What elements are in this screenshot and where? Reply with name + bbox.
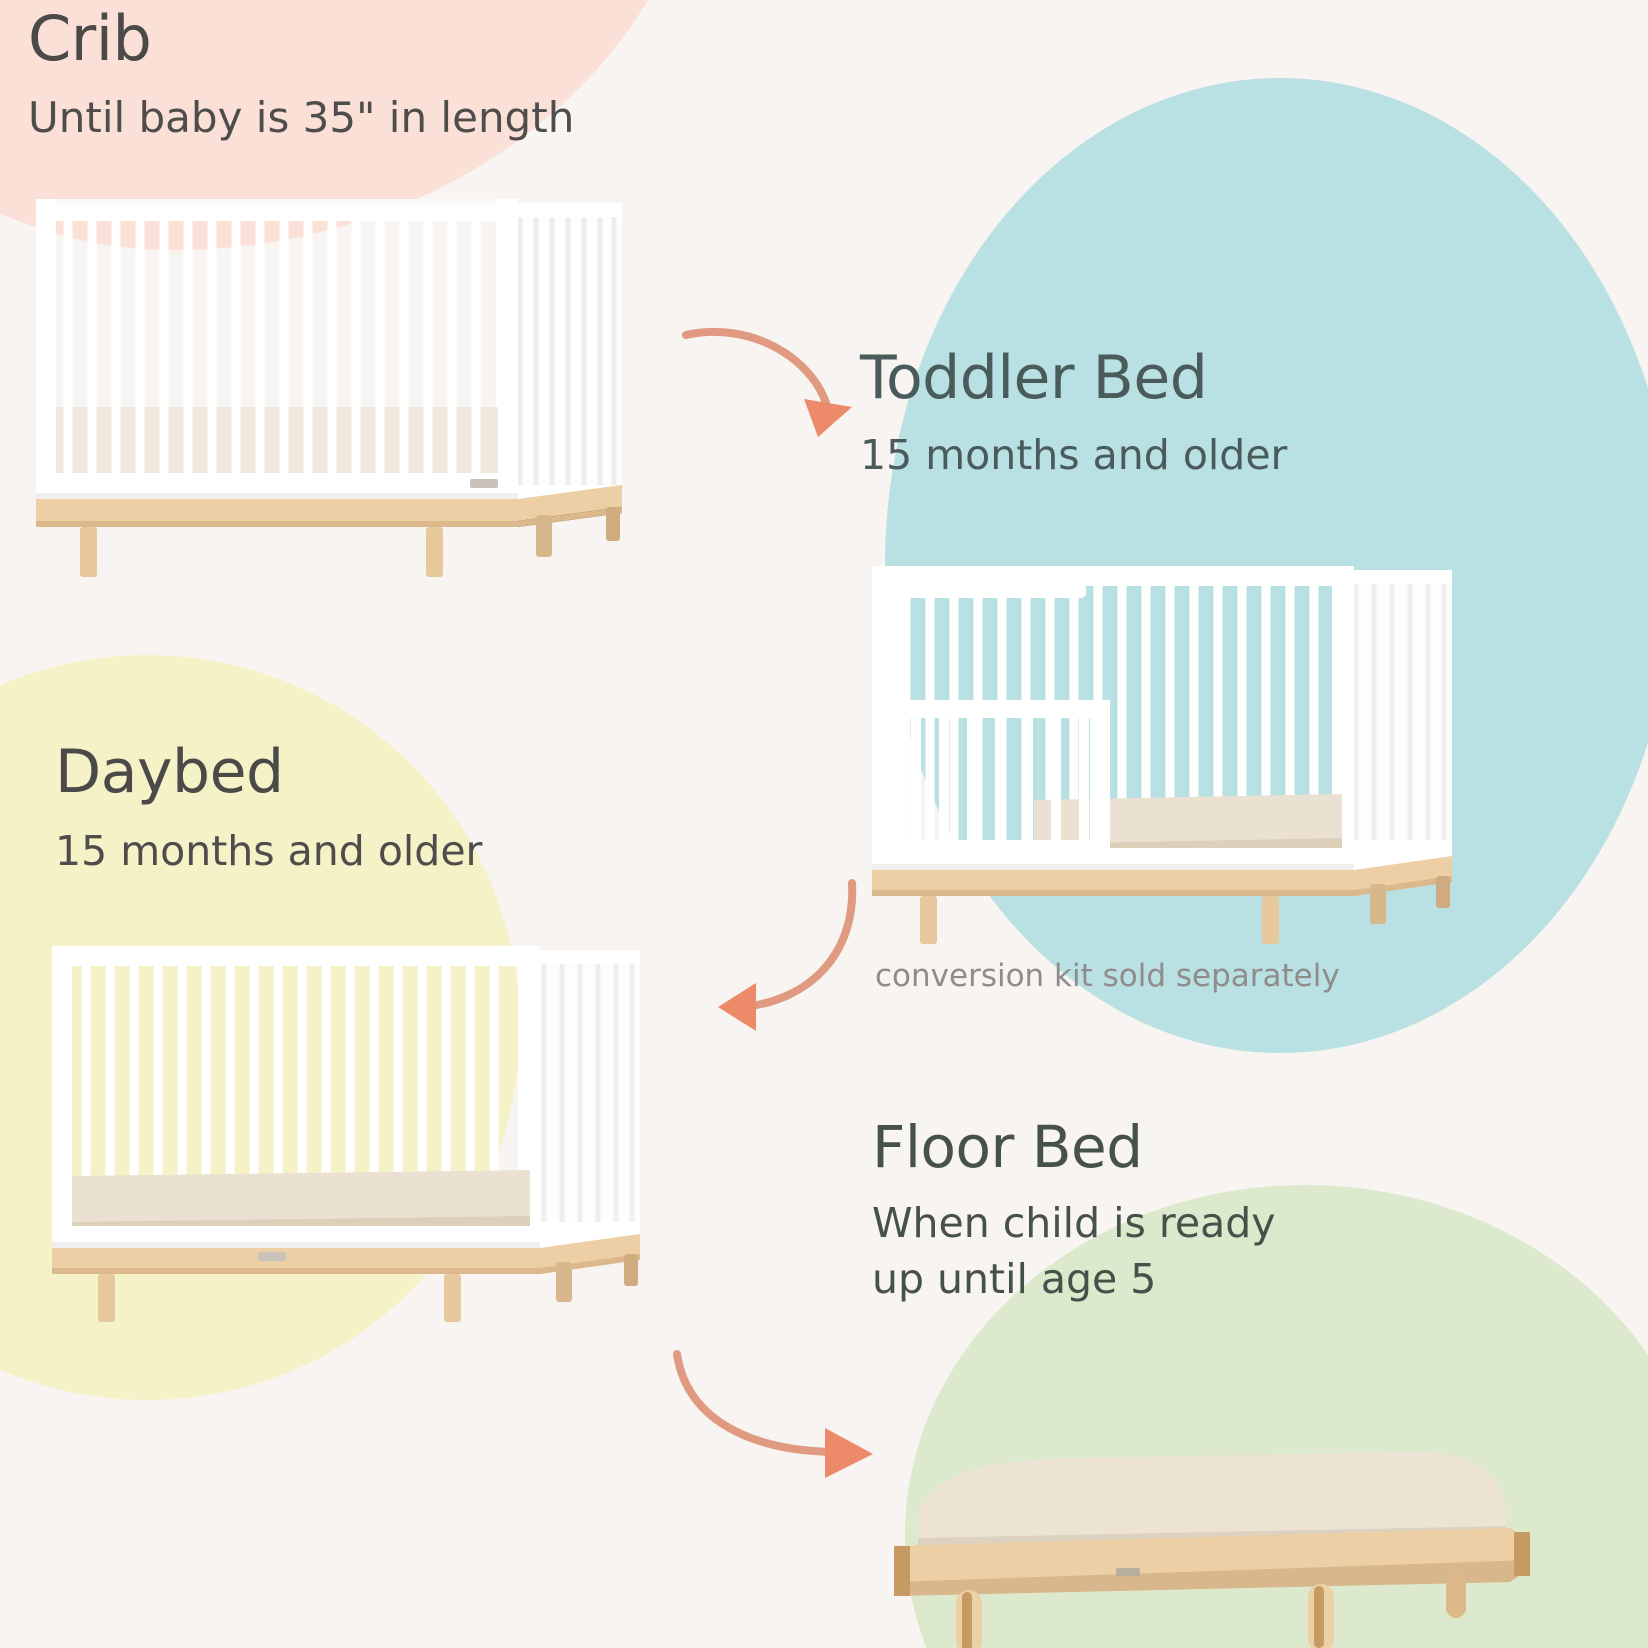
daybed-title: Daybed: [55, 742, 482, 802]
infographic-canvas: Crib Until baby is 35" in length: [0, 0, 1648, 1648]
daybed-brand-badge: [258, 1252, 286, 1261]
arrow-toddler-to-daybed: [660, 855, 890, 1045]
floorbed-title: Floor Bed: [872, 1118, 1276, 1176]
crib-illustration: [28, 185, 628, 555]
crib-text-block: Crib Until baby is 35" in length: [28, 8, 574, 143]
crib-title: Crib: [28, 8, 574, 70]
crib-right-panel: [504, 203, 622, 513]
floorbed-brand-badge: [1116, 1568, 1140, 1576]
daybed-text-block: Daybed 15 months and older: [55, 742, 482, 876]
daybed-subtitle: 15 months and older: [55, 826, 482, 876]
toddler-note-block: conversion kit sold separately: [875, 958, 1340, 994]
toddler-text-block: Toddler Bed 15 months and older: [860, 348, 1287, 480]
toddler-right-panel: [1340, 570, 1452, 870]
floorbed-text-block: Floor Bed When child is ready up until a…: [872, 1118, 1276, 1304]
floorbed-subtitle-line1: When child is ready: [872, 1198, 1276, 1248]
daybed-illustration: [40, 930, 650, 1310]
toddler-subtitle: 15 months and older: [860, 430, 1287, 480]
crib-brand-badge: [470, 479, 498, 488]
floorbed-subtitle-line2: up until age 5: [872, 1254, 1276, 1304]
arrow-crib-to-toddler: [640, 295, 880, 455]
toddler-title: Toddler Bed: [860, 348, 1287, 408]
daybed-mattress: [72, 1170, 530, 1234]
crib-subtitle: Until baby is 35" in length: [28, 92, 574, 143]
conversion-kit-note: conversion kit sold separately: [875, 958, 1340, 994]
daybed-right-panel: [528, 950, 640, 1252]
crib-front-panel: [36, 199, 518, 499]
floor-bed-illustration: [858, 1400, 1558, 1648]
floorbed-wood-frame: [894, 1528, 1530, 1648]
toddler-bed-illustration: [862, 548, 1462, 928]
